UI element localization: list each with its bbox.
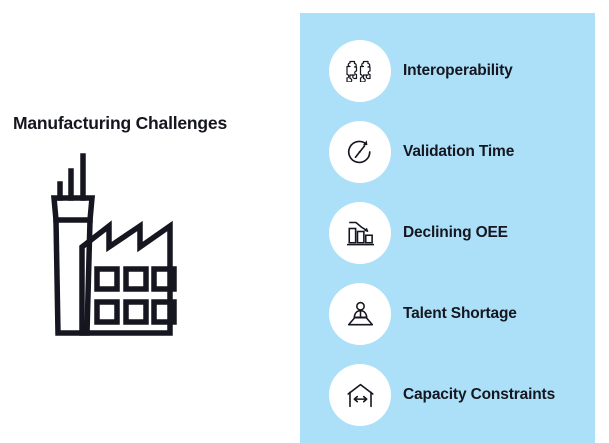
declining-bar-chart-icon — [346, 218, 375, 248]
factory-icon — [36, 152, 206, 337]
challenge-item-talent-shortage[interactable]: Talent Shortage — [300, 283, 595, 345]
challenge-label: Capacity Constraints — [403, 364, 555, 426]
challenges-panel: Interoperability Validation Time — [300, 13, 595, 443]
challenge-item-capacity-constraints[interactable]: Capacity Constraints — [300, 364, 595, 426]
warehouse-width-arrow-icon — [345, 381, 376, 410]
challenge-label: Declining OEE — [403, 202, 508, 264]
icon-circle — [329, 283, 391, 345]
puzzle-pieces-icon — [345, 60, 375, 82]
left-section: Manufacturing Challenges — [0, 0, 300, 443]
icon-circle — [329, 121, 391, 183]
challenge-label: Validation Time — [403, 121, 514, 183]
challenge-label: Interoperability — [403, 40, 513, 102]
person-podium-icon — [345, 300, 376, 328]
challenge-item-interoperability[interactable]: Interoperability — [300, 40, 595, 102]
clock-arrow-icon — [345, 137, 375, 167]
icon-circle — [329, 40, 391, 102]
challenge-item-declining-oee[interactable]: Declining OEE — [300, 202, 595, 264]
challenge-item-validation-time[interactable]: Validation Time — [300, 121, 595, 183]
challenge-label: Talent Shortage — [403, 283, 517, 345]
page-title: Manufacturing Challenges — [13, 113, 227, 134]
icon-circle — [329, 202, 391, 264]
icon-circle — [329, 364, 391, 426]
